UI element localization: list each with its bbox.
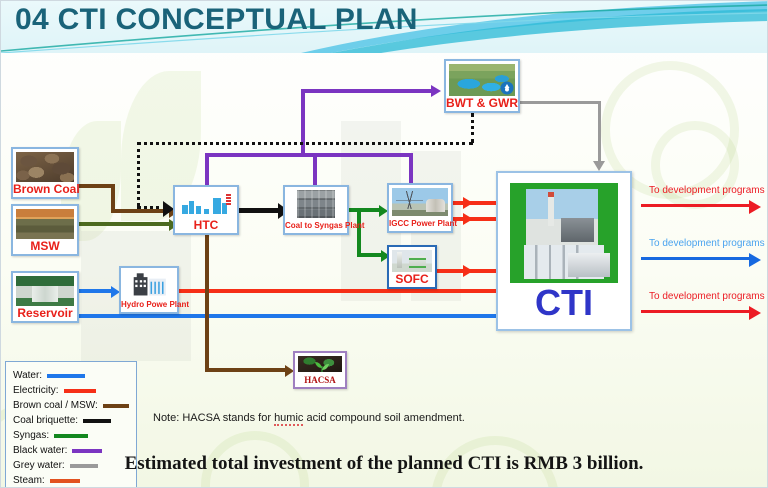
legend-swatch-coal-briquette (83, 419, 111, 423)
node-sofc[interactable]: SOFC (387, 245, 437, 289)
node-label: BWT & GWR (446, 95, 518, 111)
legend-swatch-brown-coal (103, 404, 129, 408)
node-brown-coal[interactable]: Brown Coal (11, 147, 79, 199)
node-hydro-power-plant[interactable]: Hydro Powe Plant (119, 266, 179, 314)
edge-browncoal-htc (79, 184, 115, 188)
header-banner: 04 CTI CONCEPTUAL PLAN (1, 1, 768, 53)
edge-reservoir-cti-water (43, 314, 498, 318)
legend-label: Electricity: (13, 385, 59, 396)
legend-row: Coal briquette: (13, 413, 130, 428)
arrowhead-bwt-cti (593, 161, 605, 171)
legend-label: Brown coal / MSW: (13, 400, 98, 411)
recycle-badge-icon (500, 81, 514, 95)
edge-blackwater-bwt (301, 89, 437, 93)
output-arrow-3 (641, 310, 753, 313)
edge-reservoir-hydro (79, 289, 115, 293)
edge-syngas-igcc (349, 208, 383, 212)
legend-label: Water: (13, 370, 42, 381)
hydro-plant-icon (124, 271, 174, 297)
edge-igcc-cti-electricity (453, 201, 498, 205)
node-label: Reservoir (13, 305, 77, 321)
edge-bwt-htc-dotted (137, 142, 140, 206)
arrowhead-output-3 (749, 306, 761, 320)
legend-row: Electricity: (13, 383, 130, 398)
node-bwt-gwr[interactable]: BWT & GWR (444, 59, 520, 113)
edge-htc-hacsa (205, 233, 209, 371)
hacsa-photo (298, 356, 342, 372)
hydro-glyph (124, 271, 174, 297)
legend-swatch-electricity (64, 389, 96, 393)
cti-plant-photo (526, 189, 598, 245)
output-arrow-2 (641, 257, 753, 260)
cti-building-photo (568, 253, 610, 277)
edge-syngas-blackwater (313, 153, 317, 187)
node-igcc-power-plant[interactable]: IGCC Power Plant (387, 183, 453, 233)
output-label-3: To development programs (649, 291, 765, 302)
page-title: 04 CTI CONCEPTUAL PLAN (15, 3, 418, 37)
msw-photo (16, 209, 74, 239)
footnote-prefix: Note: HACSA stands for (153, 412, 274, 424)
arrowhead-output-1 (749, 200, 761, 214)
node-reservoir[interactable]: Reservoir (11, 271, 79, 323)
edge-msw-htc (79, 222, 173, 226)
node-hacsa[interactable]: HACSA (293, 351, 347, 389)
node-msw[interactable]: MSW (11, 204, 79, 256)
arrowhead-igcc-cti-2 (463, 213, 473, 225)
legend-label: Coal briquette: (13, 415, 78, 426)
node-label: HACSA (295, 373, 345, 387)
legend-swatch-water (47, 374, 85, 378)
brown-coal-photo (16, 152, 74, 182)
node-htc[interactable]: HTC (173, 185, 239, 235)
footnote-suffix: acid compound soil amendment. (303, 412, 464, 424)
output-arrow-1 (641, 204, 753, 207)
reservoir-photo (16, 276, 74, 306)
edge-igcc-cti-electricity-2 (453, 217, 498, 221)
blackwater-riser (301, 89, 305, 155)
bwt-photo (449, 64, 515, 96)
legend-row: Steam: (13, 473, 130, 488)
node-label: Brown Coal (13, 181, 77, 197)
legend-row: Syngas: (13, 428, 130, 443)
investment-statement: Estimated total investment of the planne… (1, 453, 767, 475)
edge-hydro-cti-electricity (179, 289, 499, 293)
cti-label: CTI (498, 283, 630, 323)
legend-label: Syngas: (13, 430, 49, 441)
edge-bwt-cti-greywater (598, 101, 601, 163)
legend-row: Brown coal / MSW: (13, 398, 130, 413)
htc-chart-icon (178, 190, 234, 218)
node-label: MSW (13, 238, 77, 254)
slide-canvas: 04 CTI CONCEPTUAL PLAN (0, 0, 768, 488)
seedling-icon (311, 358, 333, 372)
node-label: Coal to Syngas Plant (285, 219, 347, 233)
edge-bwt-htc-dotted (137, 142, 473, 145)
syngas-plant-photo (297, 190, 335, 218)
legend-swatch-black-water (72, 449, 102, 453)
edge-htc-syngas (238, 208, 282, 213)
edge-syngas-sofc (357, 208, 361, 255)
node-cti[interactable]: CTI (496, 171, 632, 331)
node-coal-to-syngas-plant[interactable]: Coal to Syngas Plant (283, 185, 349, 235)
footnote: Note: HACSA stands for humic acid compou… (153, 412, 465, 424)
legend-row: Water: (13, 368, 130, 383)
edge-htc-hacsa (205, 368, 289, 372)
node-label: HTC (175, 217, 237, 233)
output-label-1: To development programs (649, 185, 765, 196)
arrowhead-blackwater-bwt (431, 85, 441, 97)
edge-igcc-blackwater (409, 153, 413, 187)
edge-bwt-cti-greywater (519, 101, 601, 104)
node-label: Hydro Powe Plant (121, 298, 177, 312)
arrowhead-sofc-cti (463, 265, 473, 277)
edge-htc-blackwater (205, 153, 209, 187)
igcc-photo (392, 188, 448, 216)
arrowhead-output-2 (749, 253, 761, 267)
output-label-2: To development programs (649, 238, 765, 249)
sofc-photo (392, 250, 432, 272)
node-label: SOFC (389, 271, 435, 287)
edge-bwt-htc-dotted (471, 113, 474, 143)
node-label: IGCC Power Plant (389, 217, 451, 231)
legend-swatch-syngas (54, 434, 88, 438)
arrowhead-igcc-cti (463, 197, 473, 209)
cti-green-panel (510, 183, 618, 283)
legend-label: Steam: (13, 475, 45, 486)
legend-swatch-steam (50, 479, 80, 483)
footnote-underlined-term: humic (274, 412, 303, 426)
blackwater-bus (205, 153, 413, 157)
